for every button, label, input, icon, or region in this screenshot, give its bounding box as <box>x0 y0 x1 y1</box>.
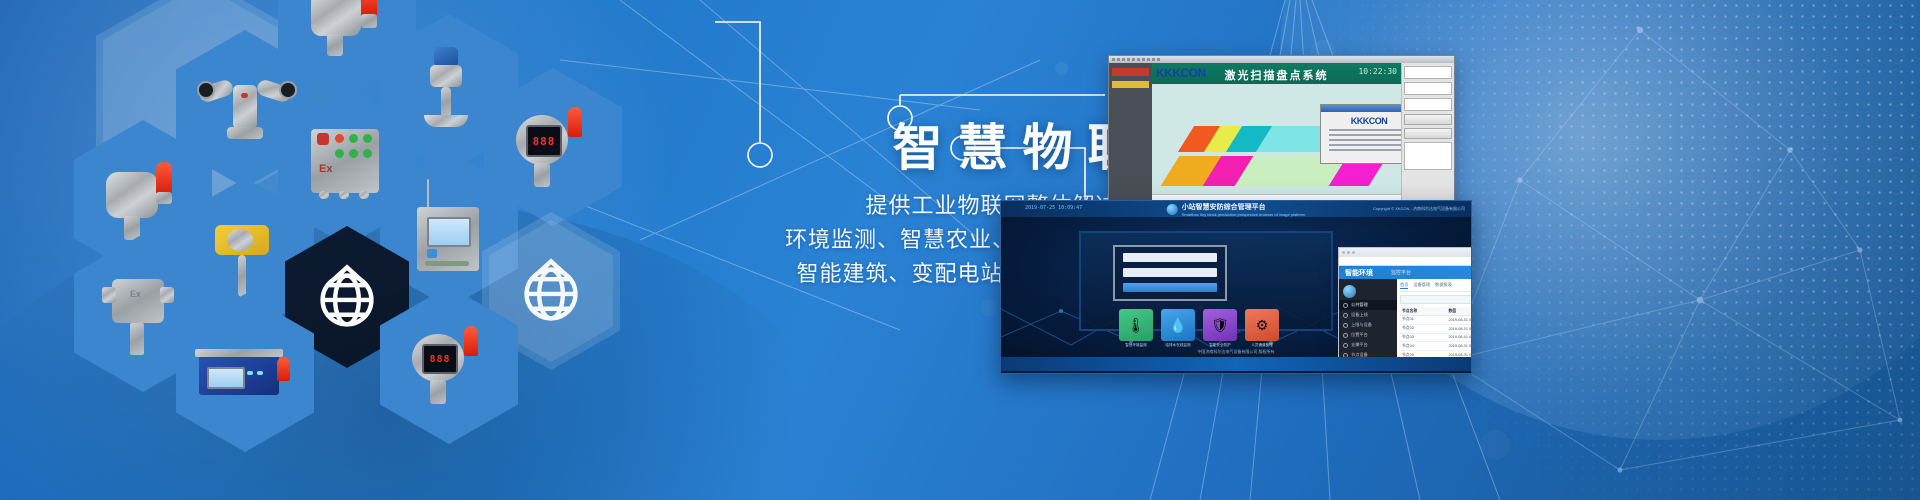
tile-label: 智慧环境监测 <box>1114 343 1158 348</box>
callout-left-line <box>715 22 760 142</box>
platform-header: 2019-07-25 10:09:47 小站智慧安防综合管理平台 Smartbo… <box>1001 201 1471 217</box>
table-header-cell: 数值 <box>1447 307 1471 316</box>
table-cell: 节点02 <box>1400 324 1447 333</box>
table-row[interactable]: 节点032019-08-01 09:15正常B区07:48查看 <box>1400 333 1471 342</box>
data-table: 节点名称 数值 状态 位置 时间 操作 节点012019-08-01 09:12… <box>1400 307 1471 357</box>
window-titlebar <box>1109 56 1454 63</box>
tile-settings[interactable]: ⚙ <box>1245 309 1279 341</box>
table-header-cell: 节点名称 <box>1400 307 1447 316</box>
bullet-icon <box>1343 313 1348 318</box>
sidebar-item-4[interactable]: 支撑平台 <box>1339 340 1397 350</box>
password-field[interactable] <box>1123 268 1217 277</box>
sidebar-item-label: 上限与设备 <box>1351 322 1372 328</box>
smart-station-platform-window[interactable]: 2019-07-25 10:09:47 小站智慧安防综合管理平台 Smartbo… <box>1000 200 1472 374</box>
browser-chrome <box>1339 248 1471 257</box>
toolbar-panel <box>1404 142 1452 170</box>
tile-temperature[interactable]: 🌡 <box>1119 309 1153 341</box>
sidebar-tag-settings[interactable] <box>1112 81 1149 88</box>
login-submit-button[interactable] <box>1123 283 1217 292</box>
sidebar-item-label: 支撑平台 <box>1351 342 1368 348</box>
banner-stage: 888 <box>0 0 1920 500</box>
dialog-text-line <box>1329 139 1401 141</box>
smart-monitoring-console-window[interactable]: 智能环境 监控平台 公共管理 设备上线 上限与设备 位置平台 支撑平台 节点设备… <box>1338 247 1471 357</box>
table-body: 节点012019-08-01 09:12正常A区07:45查看节点022019-… <box>1400 316 1471 358</box>
tab-1[interactable]: 设备管理 <box>1413 282 1430 289</box>
bullet-icon <box>1343 323 1348 328</box>
app-header: KKKCON 激光扫描盘点系统 10:22:30 <box>1152 63 1401 84</box>
console-header: 智能环境 监控平台 <box>1339 266 1471 279</box>
table-row[interactable]: 节点052019-08-01 09:21报警C区07:52查看 <box>1400 351 1471 357</box>
table-cell: 2019-08-01 09:21 <box>1447 351 1471 357</box>
sidebar-item-0[interactable]: 公共管理 <box>1339 300 1397 310</box>
table-cell: 节点05 <box>1400 351 1447 357</box>
table-row[interactable]: 节点042019-08-01 09:18正常B区07:50查看 <box>1400 342 1471 351</box>
tile-label: 给排水在线监测 <box>1156 343 1200 348</box>
toolbar-readout <box>1404 82 1452 95</box>
dialog-titlebar <box>1321 105 1401 112</box>
console-tabs[interactable]: 首页 设备管理 数据报表 <box>1400 282 1471 292</box>
table-cell: 节点01 <box>1400 316 1447 325</box>
callout-left-node <box>748 143 772 167</box>
table-header-row: 节点名称 数值 状态 位置 时间 操作 <box>1400 307 1471 316</box>
platform-stage: 🌡 💧 🛡 ⚙ 智慧环境监测 给排水在线监测 智能安全防护 人员通道管理 中国济… <box>1001 217 1471 357</box>
table-row[interactable]: 节点022019-08-01 09:13正常A区07:46查看 <box>1400 324 1471 333</box>
sidebar-item-3[interactable]: 位置平台 <box>1339 330 1397 340</box>
console-title: 智能环境 <box>1345 268 1373 278</box>
platform-brand: 小站智慧安防综合管理平台 Smartbox tiny block product… <box>1167 202 1306 217</box>
toolbar-button-scan[interactable] <box>1404 114 1452 125</box>
dialog-logo: KKKCON <box>1321 116 1401 126</box>
sidebar-item-5[interactable]: 节点设备 <box>1339 350 1397 357</box>
tab-2[interactable]: 数据报表 <box>1435 282 1452 289</box>
tab-0[interactable]: 首页 <box>1400 282 1408 289</box>
dialog-text-line <box>1329 149 1401 151</box>
console-main: 首页 设备管理 数据报表 节点名称 数值 状态 位置 <box>1397 279 1471 357</box>
username-field[interactable] <box>1123 253 1217 262</box>
avatar <box>1343 285 1356 298</box>
platform-title: 小站智慧安防综合管理平台 <box>1182 202 1306 212</box>
table-cell: 节点04 <box>1400 342 1447 351</box>
sidebar-item-label: 节点设备 <box>1351 352 1368 357</box>
tile-label: 人员通道管理 <box>1240 343 1284 348</box>
toolbar-readout <box>1404 66 1452 79</box>
platform-timestamp: 2019-07-25 10:09:47 <box>1025 205 1082 211</box>
search-input[interactable] <box>1400 295 1471 304</box>
platform-taskbar <box>1001 357 1471 371</box>
dialog-logo-text: KKCON <box>1357 116 1388 126</box>
login-panel[interactable] <box>1113 245 1227 301</box>
sidebar-item-label: 公共管理 <box>1351 302 1368 308</box>
table-cell: 2019-08-01 09:15 <box>1447 333 1471 342</box>
table-row[interactable]: 节点012019-08-01 09:12正常A区07:45查看 <box>1400 316 1471 325</box>
tile-water[interactable]: 💧 <box>1161 309 1195 341</box>
toolbar-button-export[interactable] <box>1404 128 1452 139</box>
tile-label: 智能安全防护 <box>1198 343 1242 348</box>
bullet-icon <box>1343 353 1348 358</box>
dialog-text-line <box>1329 129 1401 131</box>
tile-security[interactable]: 🛡 <box>1203 309 1237 341</box>
toolbar-readout <box>1404 98 1452 111</box>
platform-copyright: Copyright © XKCON - 济南科尔达电气设备有限公司 <box>1373 206 1465 212</box>
sidebar-item-2[interactable]: 上限与设备 <box>1339 320 1397 330</box>
dialog-text-line <box>1329 134 1401 136</box>
sidebar-item-label: 设备上线 <box>1351 312 1368 318</box>
bullet-icon <box>1343 303 1348 308</box>
platform-logo-icon <box>1167 204 1178 215</box>
sidebar-item-1[interactable]: 设备上线 <box>1339 310 1397 320</box>
browser-url-bar[interactable] <box>1339 257 1471 266</box>
table-cell: 2019-08-01 09:18 <box>1447 342 1471 351</box>
table-cell: 节点03 <box>1400 333 1447 342</box>
table-cell: 2019-08-01 09:13 <box>1447 324 1471 333</box>
console-sidebar[interactable]: 公共管理 设备上线 上限与设备 位置平台 支撑平台 节点设备 数据记录 报警记录… <box>1339 279 1397 357</box>
app-clock: 10:22:30 <box>1358 67 1397 76</box>
bullet-icon <box>1343 343 1348 348</box>
sidebar-tag-inventory[interactable] <box>1112 68 1149 76</box>
bullet-icon <box>1343 333 1348 338</box>
console-subtitle: 监控平台 <box>1391 269 1411 276</box>
dialog-text-line <box>1329 144 1401 146</box>
about-dialog[interactable]: KKKCON <box>1320 104 1401 164</box>
table-cell: 2019-08-01 09:12 <box>1447 316 1471 325</box>
sidebar-item-label: 位置平台 <box>1351 332 1368 338</box>
